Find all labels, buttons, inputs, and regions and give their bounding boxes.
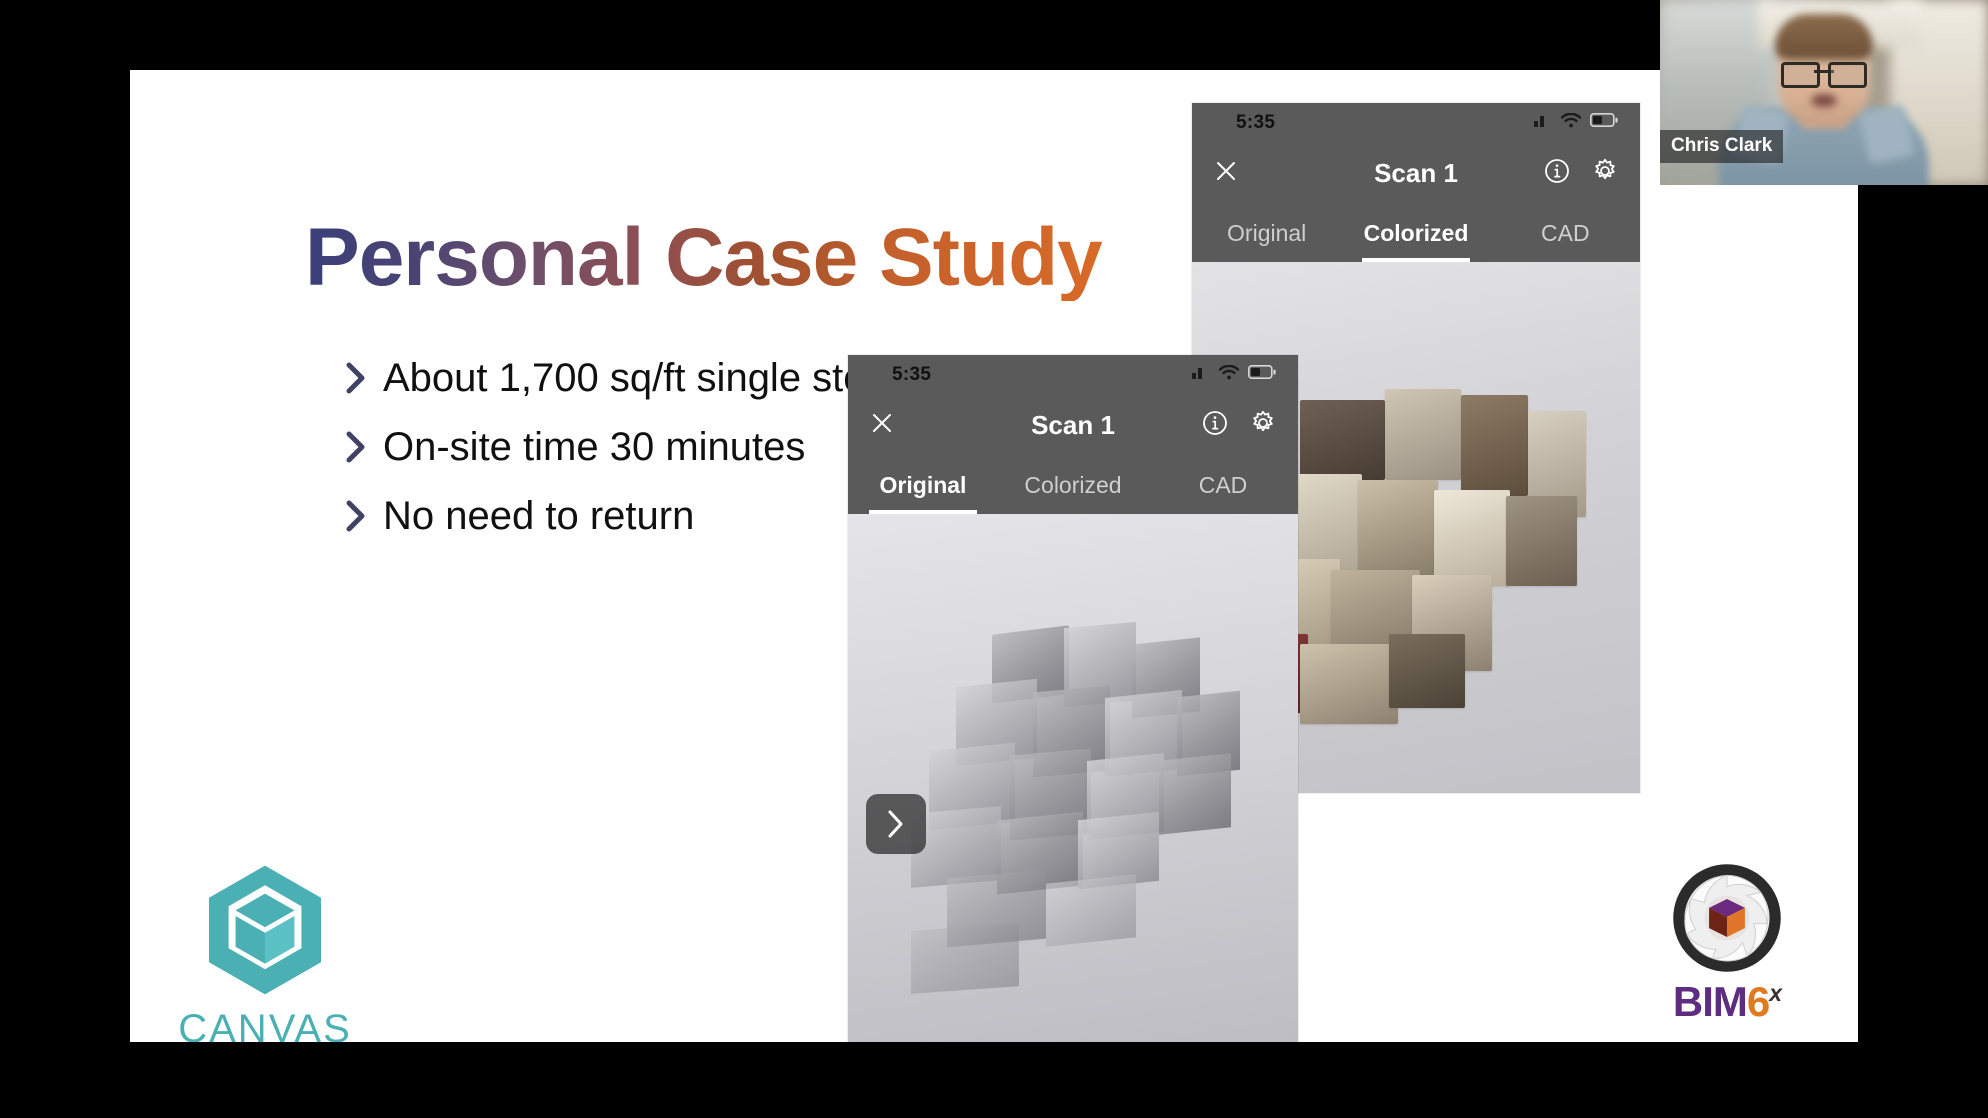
wifi-icon [1219,365,1239,385]
info-circle-icon[interactable] [1202,410,1228,441]
aperture-cube-icon [1671,961,1783,978]
status-icons [1534,113,1618,133]
canvas-wordmark: CANVAS [170,1007,360,1042]
phone-status-bar: 5:35 [1192,103,1640,142]
page-title: Personal Case Study [305,215,1102,301]
chevron-right-icon [345,430,369,464]
hex-cube-icon [195,987,335,1004]
tab-original[interactable]: Original [848,456,998,514]
battery-icon [1590,113,1618,132]
tab-original[interactable]: Original [1192,204,1341,262]
cellular-signal-icon [1534,113,1552,132]
chevron-right-icon [885,808,907,840]
gear-icon[interactable] [1250,410,1276,441]
six-text: 6 [1747,978,1769,1025]
phone-mockup-original: 5:35 [848,355,1298,1042]
participant-hair [1775,14,1873,60]
chevron-right-icon [345,499,369,533]
scan-viewport-original[interactable] [848,514,1298,1042]
tab-cad[interactable]: CAD [1491,204,1640,262]
participant-video-tile[interactable]: Chris Clark [1660,0,1988,185]
wifi-icon [1561,113,1581,133]
bullet-text: No need to return [383,493,694,540]
participant-name-label: Chris Clark [1660,130,1783,163]
next-scan-button[interactable] [866,794,926,854]
tab-colorized[interactable]: Colorized [998,456,1148,514]
status-time: 5:35 [892,364,931,386]
phone-nav-actions [1544,158,1618,189]
phone-nav-bar: Scan 1 [848,394,1298,456]
phone-nav-actions [1202,410,1276,441]
eyeglasses-icon [1781,62,1867,82]
phone-tab-bar: Original Colorized CAD [1192,204,1640,262]
cellular-signal-icon [1192,365,1210,384]
x-superscript: x [1769,980,1781,1006]
slide-canvas: Personal Case Study About 1,700 sq/ft si… [130,70,1858,1042]
chevron-right-icon [345,361,369,395]
phone-nav-bar: Scan 1 [1192,142,1640,204]
presentation-stage: Personal Case Study About 1,700 sq/ft si… [0,0,1988,1118]
participant-mouth [1811,94,1837,107]
phone-status-bar: 5:35 [848,355,1298,394]
tab-cad[interactable]: CAD [1148,456,1298,514]
info-circle-icon[interactable] [1544,158,1570,189]
canvas-logo: CANVAS [170,860,360,1042]
bullet-text: On-site time 30 minutes [383,424,805,471]
bim6x-wordmark: BIM6x [1652,981,1802,1023]
status-time: 5:35 [1236,112,1275,134]
tab-colorized[interactable]: Colorized [1341,204,1490,262]
battery-icon [1248,365,1276,384]
gear-icon[interactable] [1592,158,1618,189]
bim-text: BIM [1673,978,1747,1025]
status-icons [1192,365,1276,385]
bim6x-logo: BIM6x [1652,862,1802,1023]
phone-tab-bar: Original Colorized CAD [848,456,1298,514]
